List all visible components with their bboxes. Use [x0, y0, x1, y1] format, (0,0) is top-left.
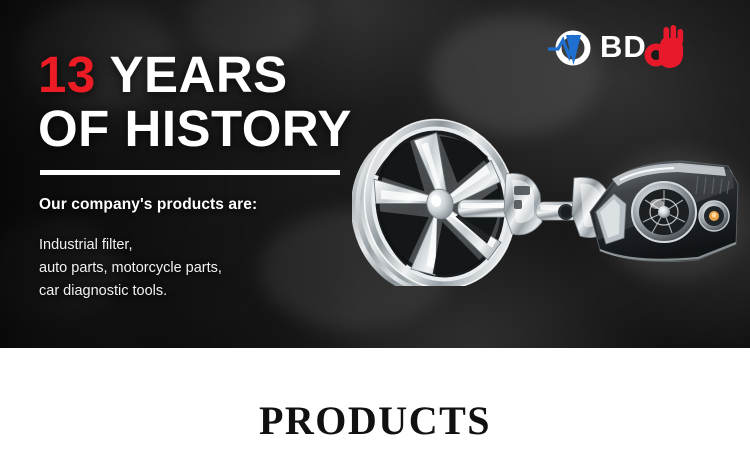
product-photo-montage — [352, 96, 742, 286]
headline-divider — [40, 170, 340, 175]
blurb-line-2: auto parts, motorcycle parts, — [39, 257, 222, 280]
headline-number: 13 — [38, 46, 96, 103]
headline-line2: OF HISTORY — [38, 100, 352, 157]
headline-line1-rest: YEARS — [96, 46, 288, 103]
hero-headline: 13 YEARS OF HISTORY — [38, 48, 352, 156]
ok-hand-icon — [645, 25, 684, 68]
products-blurb: Industrial filter, auto parts, motorcycl… — [39, 234, 222, 303]
blurb-line-1: Industrial filter, — [39, 234, 222, 257]
obd-logo-text: BD — [600, 31, 647, 62]
hero-banner: 13 YEARS OF HISTORY Our company's produc… — [0, 0, 750, 348]
blurb-line-3: car diagnostic tools. — [39, 280, 222, 303]
products-intro-heading: Our company's products are: — [39, 196, 257, 214]
products-section: PRODUCTS — [0, 348, 750, 459]
headlight-assembly — [590, 161, 738, 262]
obd-logo: BD — [548, 17, 698, 73]
products-section-title: PRODUCTS — [0, 401, 750, 441]
